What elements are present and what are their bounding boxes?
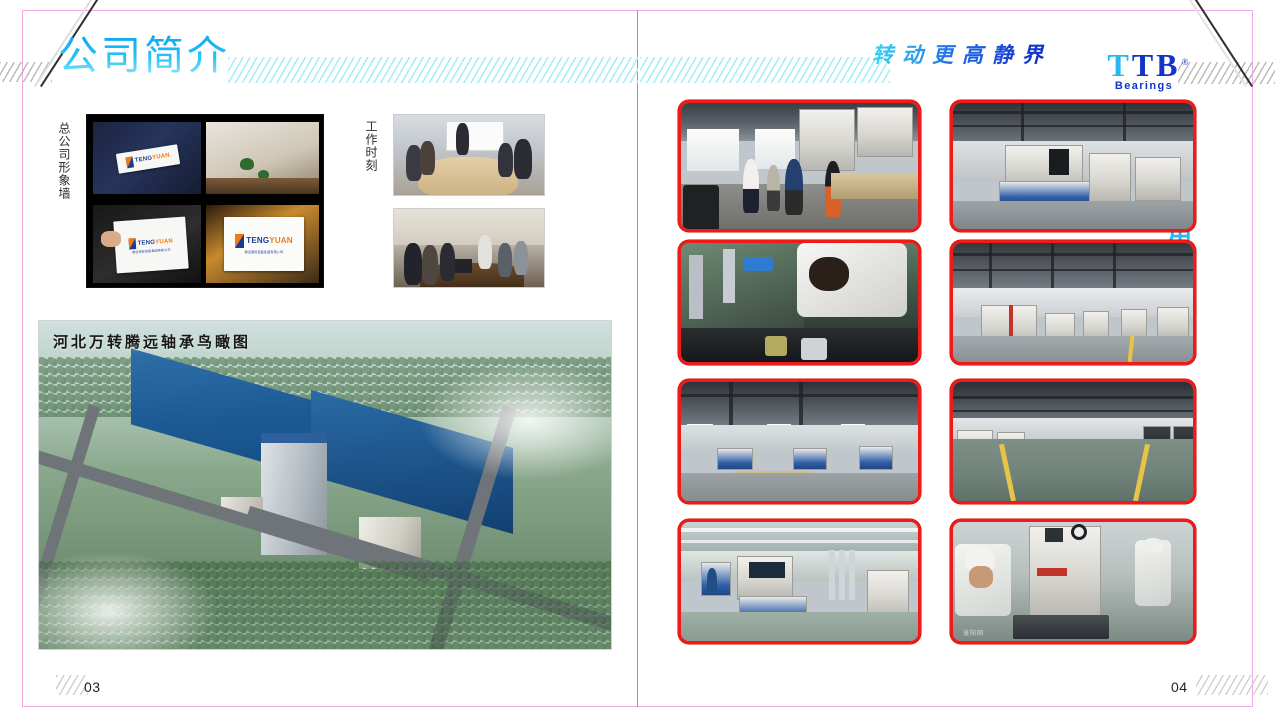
corner-hatch-bottom-right <box>1196 675 1268 695</box>
machine-stripe <box>1037 568 1067 576</box>
collage-cell-hands-holding-paper: TENGYUAN 腾远国际控股集团有限公司 <box>93 205 201 283</box>
person-visitor <box>785 159 803 215</box>
hall-ceiling <box>953 103 1193 143</box>
vertical-tube <box>849 550 855 600</box>
cnc-machine <box>1135 157 1181 201</box>
logo-letter-t2: T <box>1132 47 1156 83</box>
piston-rod <box>689 255 703 319</box>
hall-floor <box>681 473 918 501</box>
control-panel <box>1049 149 1069 175</box>
corner-hatch-top-right <box>1178 62 1275 84</box>
page-number-right: 04 <box>1171 679 1188 695</box>
workbench <box>831 173 919 199</box>
photo-press-machine-workers: 滏阳网 <box>950 519 1196 644</box>
page-title: 公司简介 <box>58 34 230 78</box>
handwheel-icon <box>1071 524 1087 540</box>
tengyuan-mark-icon <box>235 234 244 248</box>
ceiling-pipe <box>681 540 918 543</box>
hall-ceiling <box>681 522 918 553</box>
machine <box>799 109 855 171</box>
laptop <box>452 259 472 273</box>
photo-content <box>681 522 918 641</box>
label-working-moments: 工作时刻 <box>363 120 379 190</box>
photo-cnc-lathe-line <box>950 100 1196 232</box>
bearing-part <box>801 338 827 360</box>
photo-content <box>953 103 1193 229</box>
whiteboard <box>446 121 504 151</box>
fog-overlay <box>419 361 612 481</box>
page-spine <box>637 10 638 707</box>
person-worker <box>707 568 717 594</box>
person-presenter <box>456 123 469 155</box>
photo-empty-aisle <box>950 379 1196 504</box>
roof-beam <box>953 111 1193 114</box>
tengyuan-mark-icon <box>125 156 134 168</box>
tengyuan-mark-icon <box>128 238 136 249</box>
control-panel <box>749 562 785 578</box>
ceiling-pipe <box>681 528 918 532</box>
photo-content <box>953 382 1193 501</box>
person-attendee <box>404 243 422 285</box>
person-visitor <box>767 165 780 211</box>
parts-tray <box>1013 615 1109 639</box>
machine <box>859 446 893 470</box>
tengyuan-wordmark: TENGYUAN <box>138 238 174 246</box>
person-attendee <box>514 241 528 275</box>
person-presenter <box>478 235 492 269</box>
hand-decor <box>101 231 121 247</box>
fog-overlay <box>38 551 219 650</box>
machine <box>857 107 913 157</box>
tengyuan-logo: TENGYUAN <box>125 150 170 168</box>
piston-rod <box>723 249 735 303</box>
header-hatch-band-right <box>640 57 890 83</box>
person-attendee <box>422 245 438 285</box>
photo-content: 滏阳网 <box>953 522 1193 641</box>
tengyuan-wordmark: TENGYUAN <box>135 153 171 164</box>
collage-cell-business-card: TENGYUAN <box>93 122 201 194</box>
hall-floor <box>681 612 918 641</box>
photo-production-line-crates <box>678 379 921 504</box>
photo-workshop-visitors <box>678 100 921 232</box>
brass-fixture <box>765 336 787 356</box>
logo-letter-b: B <box>1156 47 1180 83</box>
roof-beam <box>953 396 1193 399</box>
person-attendee <box>420 141 435 175</box>
hall-floor <box>953 439 1193 501</box>
hall-floor <box>953 336 1193 362</box>
boardroom-wall <box>394 209 544 245</box>
header-hatch-band-left <box>228 57 638 83</box>
roof-beam <box>953 410 1193 412</box>
person-attendee <box>514 139 532 179</box>
brochure-spread: 公司简介 转动更高静界 TTB ® Bearings 总公司形象墙 工作时刻 车… <box>0 0 1275 718</box>
machine <box>717 448 753 470</box>
photo-aerial-factory-render: 河北万转腾远轴承鸟瞰图 <box>38 320 612 650</box>
worker-face <box>969 566 993 588</box>
watermark: 滏阳网 <box>963 628 984 637</box>
business-card: TENGYUAN <box>116 144 180 173</box>
photo-wide-machine-hall <box>950 240 1196 365</box>
photo-technician-assembly <box>678 240 921 365</box>
roof-beam <box>953 125 1193 127</box>
plant-decor <box>240 158 254 170</box>
tengyuan-wordmark: TENGYUAN <box>246 238 293 244</box>
tower-roof-sign <box>261 433 327 443</box>
person-attendee <box>498 243 512 277</box>
worker-head <box>809 257 849 291</box>
brand-tagline: 转动更高静界 <box>872 39 1052 69</box>
tengyuan-company-name-cn: 腾远国际控股集团有限公司 <box>245 250 283 254</box>
machine <box>1121 309 1147 339</box>
machine-bed <box>681 328 918 362</box>
reception-desk <box>206 178 319 194</box>
logo-letters: TTB ® <box>1107 48 1180 82</box>
photo-content <box>681 382 918 501</box>
photo-content <box>953 243 1193 362</box>
window <box>687 129 739 171</box>
photo-meeting-boardroom <box>393 208 545 288</box>
booth-logo-panel: TENGYUAN 腾远国际控股集团有限公司 <box>224 217 304 271</box>
person-attendee <box>440 243 455 281</box>
machine-display <box>1045 528 1063 542</box>
vertical-tube <box>839 550 845 600</box>
person-visitor <box>743 159 759 213</box>
registered-trademark-icon: ® <box>1182 45 1192 79</box>
label-head-office-wall: 总公司形象墙 <box>56 122 72 222</box>
collage-cell-reception-wall: TENGYUAN 腾远国际控股集团有限公司 <box>206 122 319 194</box>
photo-content <box>681 243 918 362</box>
photo-content <box>681 103 918 229</box>
worker-cap <box>1143 538 1163 552</box>
photo-meeting-whiteboard <box>393 114 545 196</box>
cnc-machine <box>1089 153 1131 203</box>
vertical-tube <box>829 550 835 600</box>
aerial-caption: 河北万转腾远轴承鸟瞰图 <box>53 331 251 352</box>
collage-cell-exhibition-booth: TENGYUAN 腾远国际控股集团有限公司 <box>206 205 319 283</box>
letterhead-paper: TENGYUAN 腾远国际控股集团有限公司 <box>113 217 188 274</box>
logo-letter-t1: T <box>1107 47 1131 83</box>
stacked-parts <box>683 185 719 231</box>
hall-ceiling <box>953 382 1193 422</box>
person-attendee <box>498 143 513 177</box>
machine <box>793 448 827 470</box>
hall-floor <box>953 201 1193 229</box>
page-number-left: 03 <box>84 679 101 695</box>
photo-bearing-processing-line <box>678 519 921 644</box>
photo-brand-wall-collage: TENGYUAN TENGYUAN 腾远国际控股集团有限公司 <box>86 114 324 288</box>
tengyuan-logo: TENGYUAN <box>235 234 293 248</box>
ttb-logo: TTB ® Bearings <box>1096 48 1192 92</box>
blue-hose <box>743 257 773 271</box>
